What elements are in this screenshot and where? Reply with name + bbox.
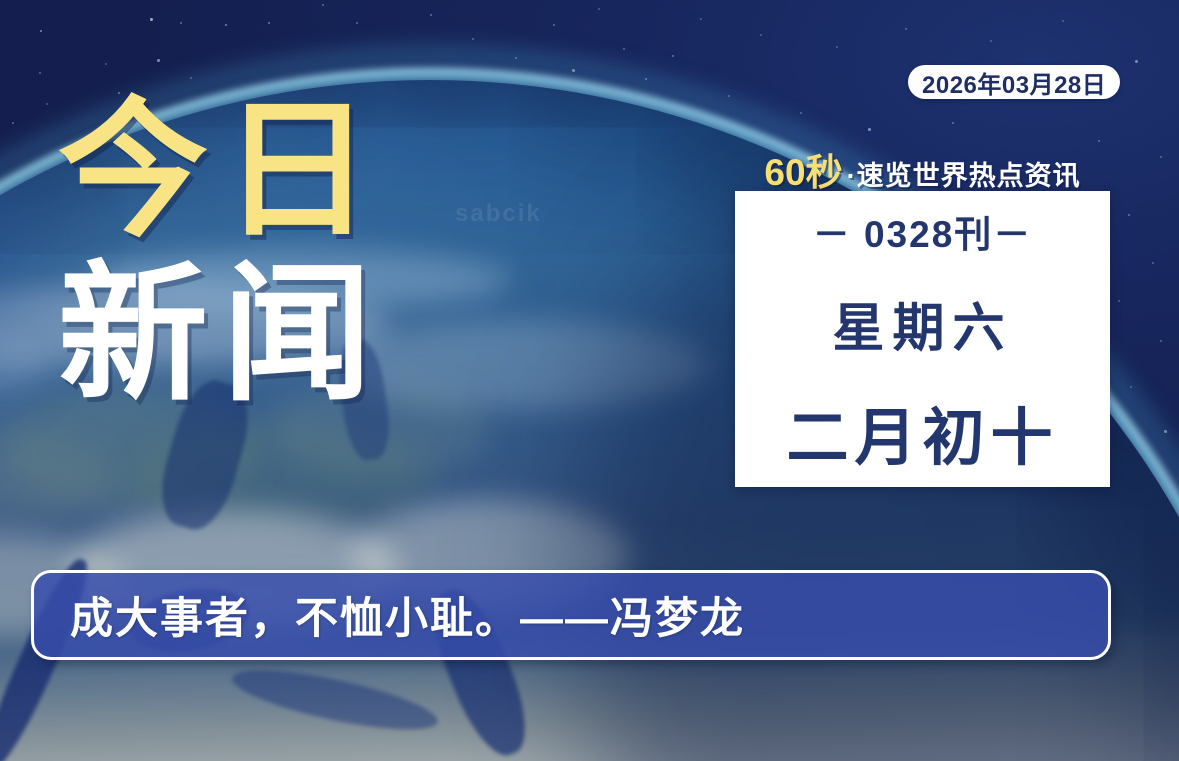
tagline: 60秒 ·速览世界热点资讯 [735,142,1110,196]
news-poster: sabcik 今日 新闻 2026年03月28日 60秒 ·速览世界热点资讯 －… [0,0,1179,761]
title-line-xinwen: 新闻 [58,260,488,410]
quote-text: 成大事者，不恤小耻。——冯梦龙 [70,584,745,646]
poster-title: 今日 新闻 [58,96,488,410]
tagline-rest: ·速览世界热点资讯 [847,154,1081,193]
title-line-jinri: 今日 [58,96,488,246]
date-badge-text: 2026年03月28日 [922,65,1106,100]
quote-bar: 成大事者，不恤小耻。——冯梦龙 [31,570,1111,660]
lunar-date-label: 二月初十 [786,387,1058,477]
date-badge: 2026年03月28日 [908,65,1120,99]
issue-number: － 0328刊－ [813,204,1033,258]
issue-card: － 0328刊－ 星期六 二月初十 [735,191,1110,487]
weekday-label: 星期六 [832,286,1012,361]
tagline-seconds: 60秒 [764,142,842,196]
